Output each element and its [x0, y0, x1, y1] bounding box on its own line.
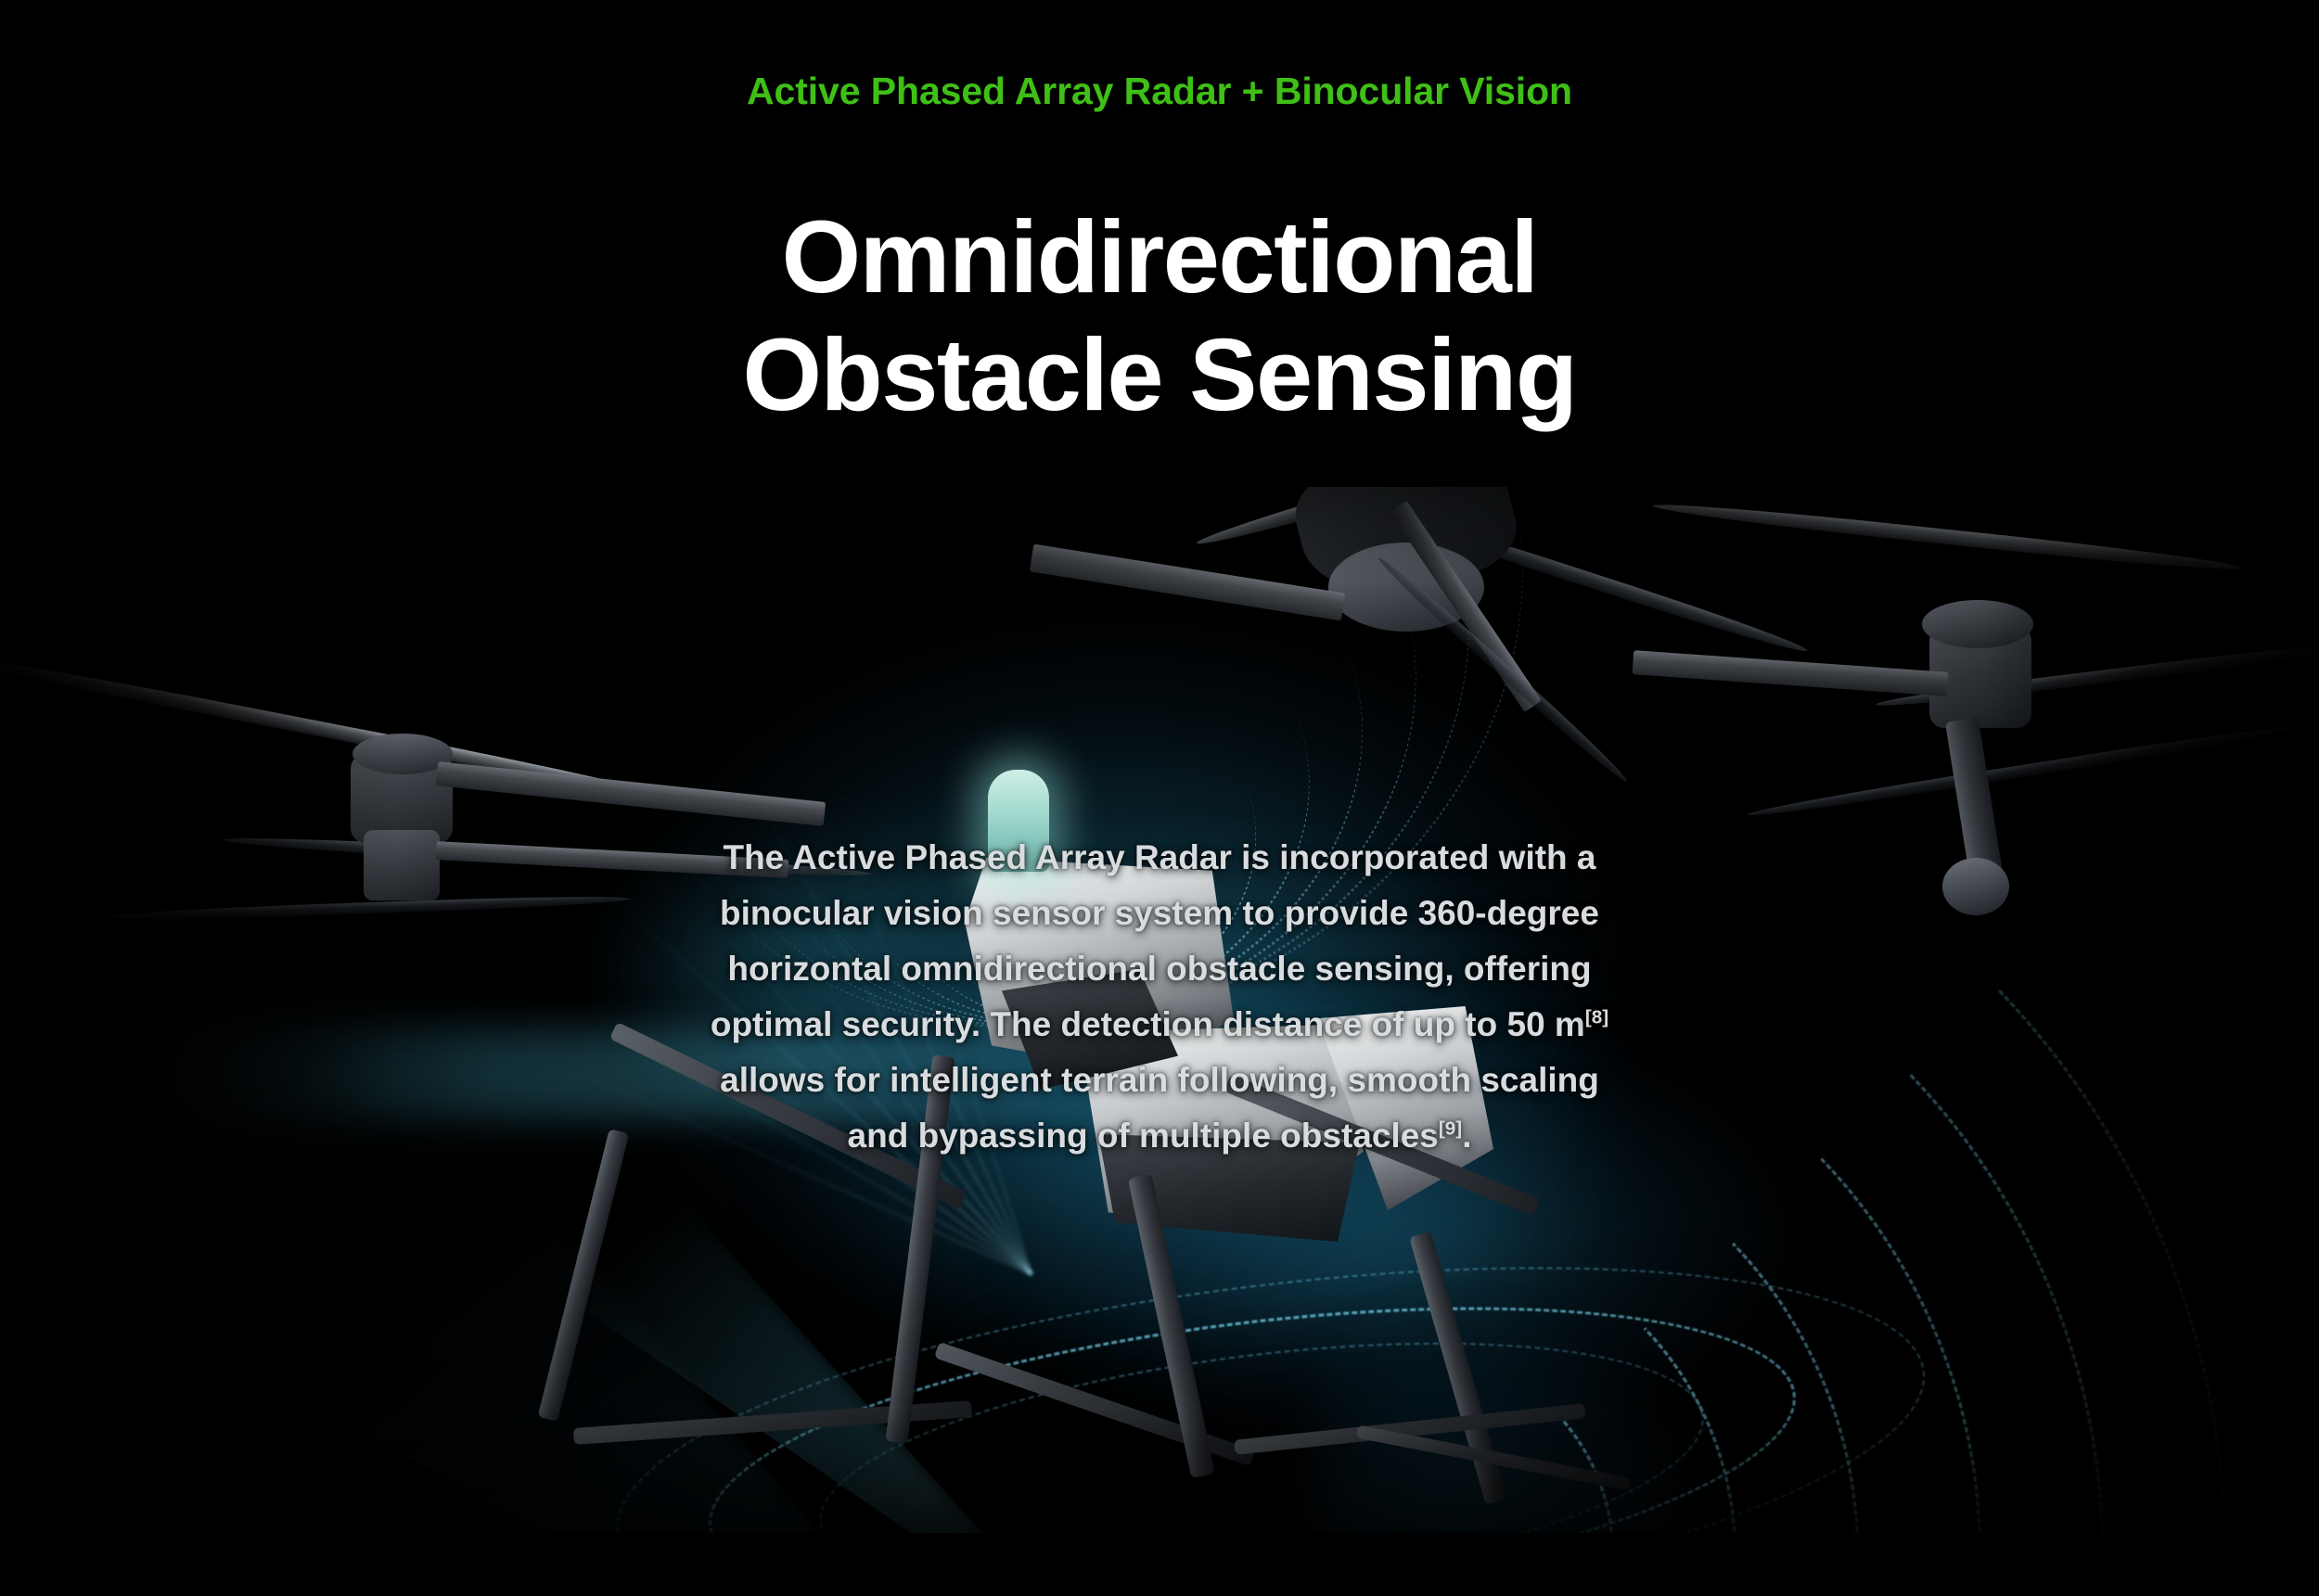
footnote-marker-8: [8]	[1585, 1006, 1608, 1028]
section-eyebrow: Active Phased Array Radar + Binocular Vi…	[742, 67, 1577, 115]
page-title: Omnidirectional Obstacle Sensing	[325, 199, 1994, 434]
description-part-3: .	[1462, 1117, 1471, 1155]
propeller-blade-right-lower	[1747, 721, 2299, 821]
foot-right	[1942, 858, 2009, 915]
footnote-marker-9: [9]	[1439, 1117, 1462, 1139]
headline-line-1: Omnidirectional	[325, 199, 1994, 317]
footer-spacer	[0, 1533, 2319, 1596]
feature-description: The Active Phased Array Radar is incorpo…	[705, 830, 1614, 1164]
feature-section: Active Phased Array Radar + Binocular Vi…	[0, 0, 2319, 1596]
radar-beam-rays	[1031, 1273, 1032, 1274]
motor-cap-right	[1922, 600, 2033, 648]
leg-right	[1945, 717, 2003, 878]
description-part-1: The Active Phased Array Radar is incorpo…	[711, 838, 1599, 1043]
headline-line-2: Obstacle Sensing	[325, 317, 1994, 435]
motor-mount-left	[364, 830, 440, 900]
section-header: Active Phased Array Radar + Binocular Vi…	[0, 0, 2319, 487]
